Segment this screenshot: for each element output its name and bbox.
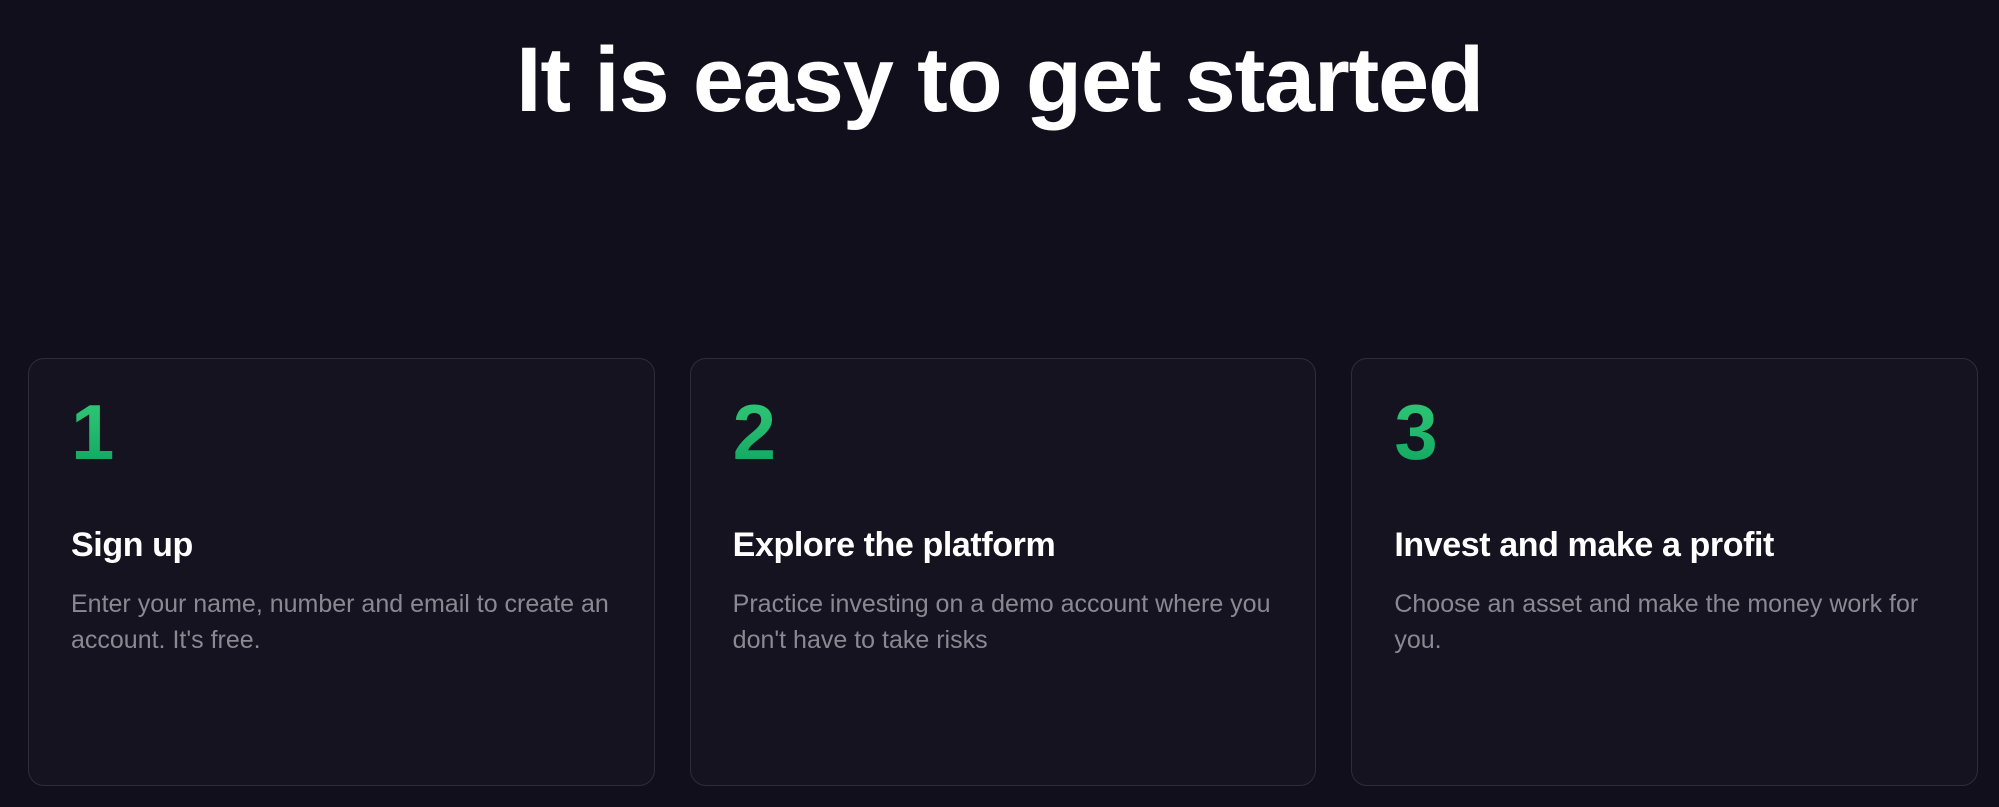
page-title: It is easy to get started (516, 32, 1483, 129)
step-card-3[interactable]: 3 Invest and make a profit Choose an ass… (1351, 358, 1978, 786)
step-number-3: 3 (1394, 393, 1436, 471)
step-title-3: Invest and make a profit (1394, 525, 1774, 565)
step-card-2[interactable]: 2 Explore the platform Practice investin… (690, 358, 1317, 786)
get-started-section: It is easy to get started 1 Sign up Ente… (0, 0, 1999, 807)
step-title-2: Explore the platform (733, 525, 1056, 565)
step-card-1[interactable]: 1 Sign up Enter your name, number and em… (28, 358, 655, 786)
steps-card-row: 1 Sign up Enter your name, number and em… (28, 358, 1978, 786)
step-description-3: Choose an asset and make the money work … (1394, 587, 1935, 658)
step-description-2: Practice investing on a demo account whe… (733, 587, 1274, 658)
headline-container: It is easy to get started (0, 0, 1999, 160)
step-title-1: Sign up (71, 525, 193, 565)
step-description-1: Enter your name, number and email to cre… (71, 587, 612, 658)
step-number-2: 2 (733, 393, 775, 471)
step-number-1: 1 (71, 393, 113, 471)
